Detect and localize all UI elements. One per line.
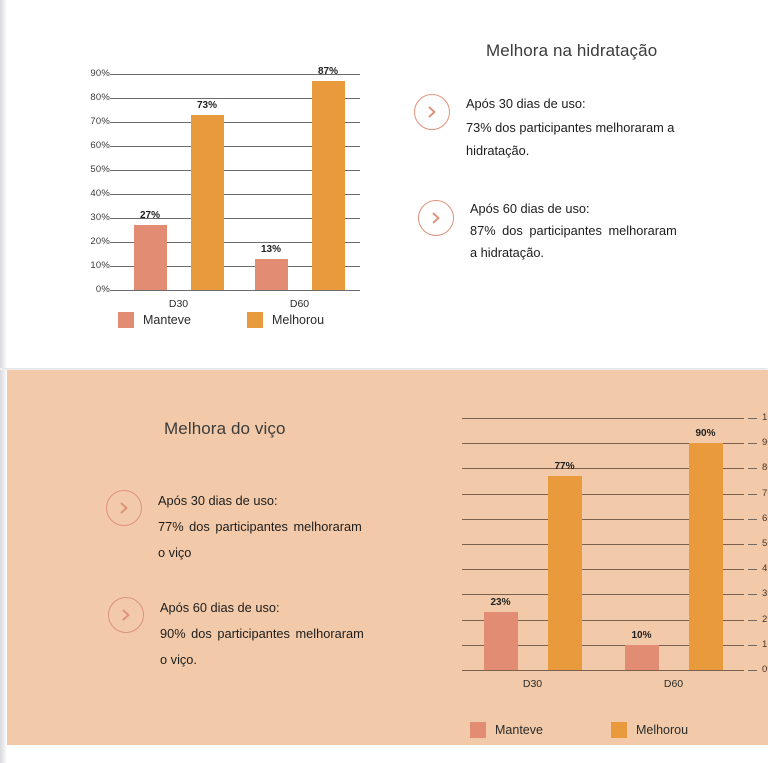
y-axis-tick-label: 50% [762, 538, 768, 549]
bar-d30-melhorou [191, 115, 224, 290]
bullet-hidratacao-d30-text: Após 30 dias de uso: 73% dos participant… [466, 92, 674, 163]
chart-vico-plot: 0%10%20%30%40%50%60%70%80%90%100%23%77%D… [462, 418, 744, 670]
chart-hidratacao: 0%10%20%30%40%50%60%70%80%90%27%73%D3013… [118, 74, 360, 290]
x-axis-label-d30: D30 [493, 678, 573, 690]
bullet-line: hidratação. [466, 139, 674, 163]
y-axis-tick-label: 20% [78, 236, 110, 247]
chevron-right-circle-icon [414, 94, 450, 130]
page-title-vico: Melhora do viço [164, 419, 286, 439]
bullet-vico-d30-text: Após 30 dias de uso: 77% dos participant… [158, 488, 362, 567]
y-axis-tick [748, 569, 757, 570]
y-axis-tick-label: 80% [762, 462, 768, 473]
chart-hidratacao-plot: 0%10%20%30%40%50%60%70%80%90%27%73%D3013… [118, 74, 360, 290]
legend-label-melhorou: Melhorou [636, 723, 688, 737]
y-axis-tick [748, 443, 757, 444]
bullet-vico-d60-text: Após 60 dias de uso: 90% dos participant… [160, 595, 364, 674]
y-axis-tick [748, 620, 757, 621]
bar-value-label: 77% [540, 461, 590, 472]
legend-hidratacao: Manteve Melhorou [118, 312, 324, 328]
y-axis-tick-label: 20% [762, 614, 768, 625]
y-axis-tick [110, 290, 119, 291]
bullet-hidratacao-d60-text: Após 60 dias de uso: 87% dos participant… [470, 198, 677, 264]
y-axis-tick-label: 90% [762, 437, 768, 448]
y-axis-tick-label: 30% [762, 588, 768, 599]
bar-value-label: 73% [183, 100, 232, 111]
y-axis-tick [748, 418, 757, 419]
bar-value-label: 27% [126, 210, 175, 221]
legend-item-manteve: Manteve [118, 312, 191, 328]
legend-swatch-melhorou [611, 722, 627, 738]
bullet-hidratacao-d30: Após 30 dias de uso: 73% dos participant… [414, 92, 754, 163]
y-axis-tick [110, 242, 119, 243]
bar-d60-manteve [625, 645, 659, 670]
gridline [118, 290, 360, 291]
bullet-line: Após 60 dias de uso: [470, 198, 677, 220]
bullet-line: 90% dos participantes melhoraram [160, 621, 364, 647]
y-axis-tick-label: 80% [78, 92, 110, 103]
x-axis-label-d30: D30 [139, 298, 219, 310]
bar-d30-manteve [134, 225, 167, 290]
y-axis-tick [748, 544, 757, 545]
y-axis-tick-label: 90% [78, 68, 110, 79]
y-axis-tick-label: 60% [762, 513, 768, 524]
bar-value-label: 10% [617, 630, 667, 641]
bar-value-label: 23% [476, 597, 526, 608]
y-axis-tick [110, 194, 119, 195]
y-axis-tick-label: 10% [78, 260, 110, 271]
gridline [462, 418, 744, 419]
legend-swatch-manteve [470, 722, 486, 738]
legend-swatch-melhorou [247, 312, 263, 328]
y-axis-tick-label: 100% [762, 412, 768, 423]
bullet-line: o viço. [160, 647, 364, 673]
y-axis-tick [110, 74, 119, 75]
y-axis-tick-label: 70% [762, 488, 768, 499]
y-axis-tick [110, 218, 119, 219]
bullet-line: Após 30 dias de uso: [466, 92, 674, 116]
y-axis-tick-label: 10% [762, 639, 768, 650]
page-hidratacao: 0%10%20%30%40%50%60%70%80%90%27%73%D3013… [0, 0, 768, 368]
y-axis-tick [110, 122, 119, 123]
bar-value-label: 90% [681, 428, 731, 439]
page-left-edge [0, 0, 7, 368]
bar-d60-melhorou [689, 443, 723, 670]
y-axis-tick [748, 594, 757, 595]
y-axis-tick [110, 146, 119, 147]
bullet-line: a hidratação. [470, 242, 677, 264]
y-axis-tick [748, 468, 757, 469]
bullet-line: 87% dos participantes melhoraram [470, 220, 677, 242]
bullet-line: 77% dos participantes melhoraram [158, 514, 362, 540]
bar-d30-manteve [484, 612, 518, 670]
x-axis-label-d60: D60 [260, 298, 340, 310]
y-axis-tick [110, 266, 119, 267]
y-axis-tick [110, 98, 119, 99]
chevron-right-circle-icon [108, 597, 144, 633]
bullet-vico-d60: Após 60 dias de uso: 90% dos participant… [108, 595, 458, 674]
bullet-line: o viço [158, 540, 362, 566]
y-axis-tick [748, 519, 757, 520]
y-axis-tick-label: 40% [78, 188, 110, 199]
legend-item-melhorou: Melhorou [247, 312, 324, 328]
legend-item-melhorou: Melhorou [611, 722, 688, 738]
legend-label-manteve: Manteve [143, 313, 191, 327]
legend-swatch-manteve [118, 312, 134, 328]
y-axis-tick-label: 70% [78, 116, 110, 127]
bullet-line: Após 60 dias de uso: [160, 595, 364, 621]
gridline [462, 670, 744, 671]
bullet-vico-d30: Após 30 dias de uso: 77% dos participant… [106, 488, 456, 567]
chart-vico: 0%10%20%30%40%50%60%70%80%90%100%23%77%D… [462, 418, 744, 670]
legend-item-manteve: Manteve [470, 722, 543, 738]
y-axis-tick-label: 0% [762, 664, 768, 675]
y-axis-tick-label: 30% [78, 212, 110, 223]
bullet-hidratacao-d60: Após 60 dias de uso: 87% dos participant… [418, 198, 758, 264]
bar-value-label: 13% [247, 244, 296, 255]
bar-d30-melhorou [548, 476, 582, 670]
bullet-line: Após 30 dias de uso: [158, 488, 362, 514]
bar-d60-melhorou [312, 81, 345, 290]
legend-label-manteve: Manteve [495, 723, 543, 737]
page-left-edge [0, 370, 7, 763]
x-axis-label-d60: D60 [634, 678, 714, 690]
y-axis-tick [748, 645, 757, 646]
chevron-right-circle-icon [106, 490, 142, 526]
bar-d60-manteve [255, 259, 288, 290]
y-axis-tick [748, 670, 757, 671]
legend-vico: Manteve Melhorou [470, 722, 688, 738]
y-axis-tick [748, 494, 757, 495]
y-axis-tick [110, 170, 119, 171]
legend-label-melhorou: Melhorou [272, 313, 324, 327]
bullet-line: 73% dos participantes melhoraram a [466, 116, 674, 140]
page-vico: Melhora do viço Após 30 dias de uso: 77%… [0, 370, 768, 763]
page-title-hidratacao: Melhora na hidratação [486, 41, 657, 61]
chevron-right-circle-icon [418, 200, 454, 236]
y-axis-tick-label: 0% [78, 284, 110, 295]
y-axis-tick-label: 40% [762, 563, 768, 574]
bar-value-label: 87% [304, 66, 353, 77]
y-axis-tick-label: 50% [78, 164, 110, 175]
y-axis-tick-label: 60% [78, 140, 110, 151]
